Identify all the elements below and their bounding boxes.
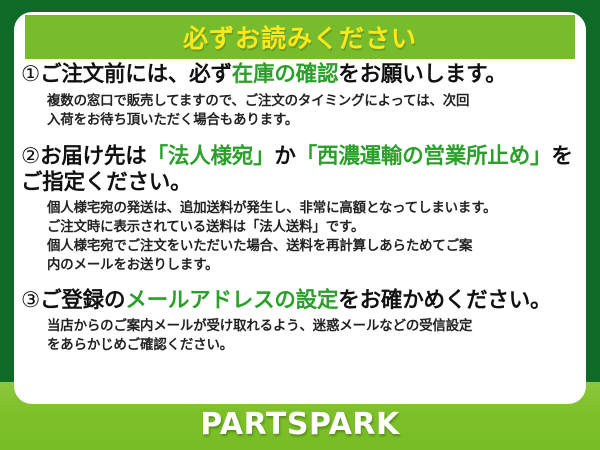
notice-marker: ② (21, 144, 40, 169)
notice-body-line: をあらかじめご確認ください。 (47, 336, 580, 355)
notice-item: ②お届け先は「法人様宛」か「西濃運輸の営業所止め」をご指定ください。個人様宅宛の… (21, 144, 580, 275)
notice-body: 複数の窓口で販売してますので、ご注文のタイミングによっては、次回入荷をお待ち頂い… (21, 90, 580, 130)
notice-heading: ②お届け先は「法人様宛」か「西濃運輸の営業所止め」をご指定ください。 (21, 144, 580, 197)
notice-item: ③ご登録のメールアドレスの設定をお確かめください。当店からのご案内メールが受け取… (21, 288, 580, 355)
notice-body: 当店からのご案内メールが受け取れるよう、迷惑メールなどの受信設定をあらかじめご確… (21, 315, 580, 355)
notice-body-line: 内のメールをお送りします。 (47, 256, 580, 275)
notice-body-line: 入荷をお待ち頂いただく場合もあります。 (47, 111, 580, 130)
notice-marker: ③ (21, 288, 40, 313)
notice-marker: ① (21, 62, 40, 87)
header-band: 必ずお読みください (25, 15, 575, 59)
heading-text: をお確かめください。 (338, 288, 551, 313)
heading-text: ご注文前には、必ず (40, 62, 232, 87)
highlighted-term: 「法人様宛」 (147, 144, 275, 169)
highlighted-term: 「西濃運輸の営業所止め」 (296, 144, 552, 169)
page-title: 必ずお読みください (183, 19, 417, 55)
notice-body-line: 当店からのご案内メールが受け取れるよう、迷惑メールなどの受信設定 (47, 317, 580, 336)
heading-text: か (274, 144, 295, 169)
notice-item: ①ご注文前には、必ず在庫の確認をお願いします。複数の窓口で販売してますので、ご注… (21, 62, 580, 130)
heading-text: をお願いします。 (338, 62, 506, 87)
highlighted-term: 在庫の確認 (232, 62, 339, 87)
notice-body: 個人様宅宛の発送は、追加送料が発生し、非常に高額となってしまいます。ご注文時に表… (21, 197, 580, 275)
notice-body-line: ご注文時に表示されている送料は「法人送料」です。 (47, 218, 580, 237)
notice-heading: ③ご登録のメールアドレスの設定をお確かめください。 (21, 288, 580, 315)
content-panel: 必ずお読みください ①ご注文前には、必ず在庫の確認をお願いします。複数の窓口で販… (14, 12, 586, 404)
notice-body-line: 複数の窓口で販売してますので、ご注文のタイミングによっては、次回 (47, 92, 580, 111)
notice-body-line: 個人様宅宛の発送は、追加送料が発生し、非常に高額となってしまいます。 (47, 199, 580, 218)
heading-text: お届け先は (40, 144, 147, 169)
highlighted-term: メールアドレスの設定 (125, 288, 338, 313)
heading-text: ご登録の (40, 288, 125, 313)
notice-heading: ①ご注文前には、必ず在庫の確認をお願いします。 (21, 62, 580, 89)
notice-banner: 必ずお読みください ①ご注文前には、必ず在庫の確認をお願いします。複数の窓口で販… (0, 0, 600, 450)
notice-body-line: 個人様宅宛でご注文をいただいた場合、送料を再計算しあらためてご案 (47, 237, 580, 256)
notice-list: ①ご注文前には、必ず在庫の確認をお願いします。複数の窓口で販売してますので、ご注… (14, 62, 586, 357)
brand-wordmark: PARTSPARK (0, 407, 600, 442)
